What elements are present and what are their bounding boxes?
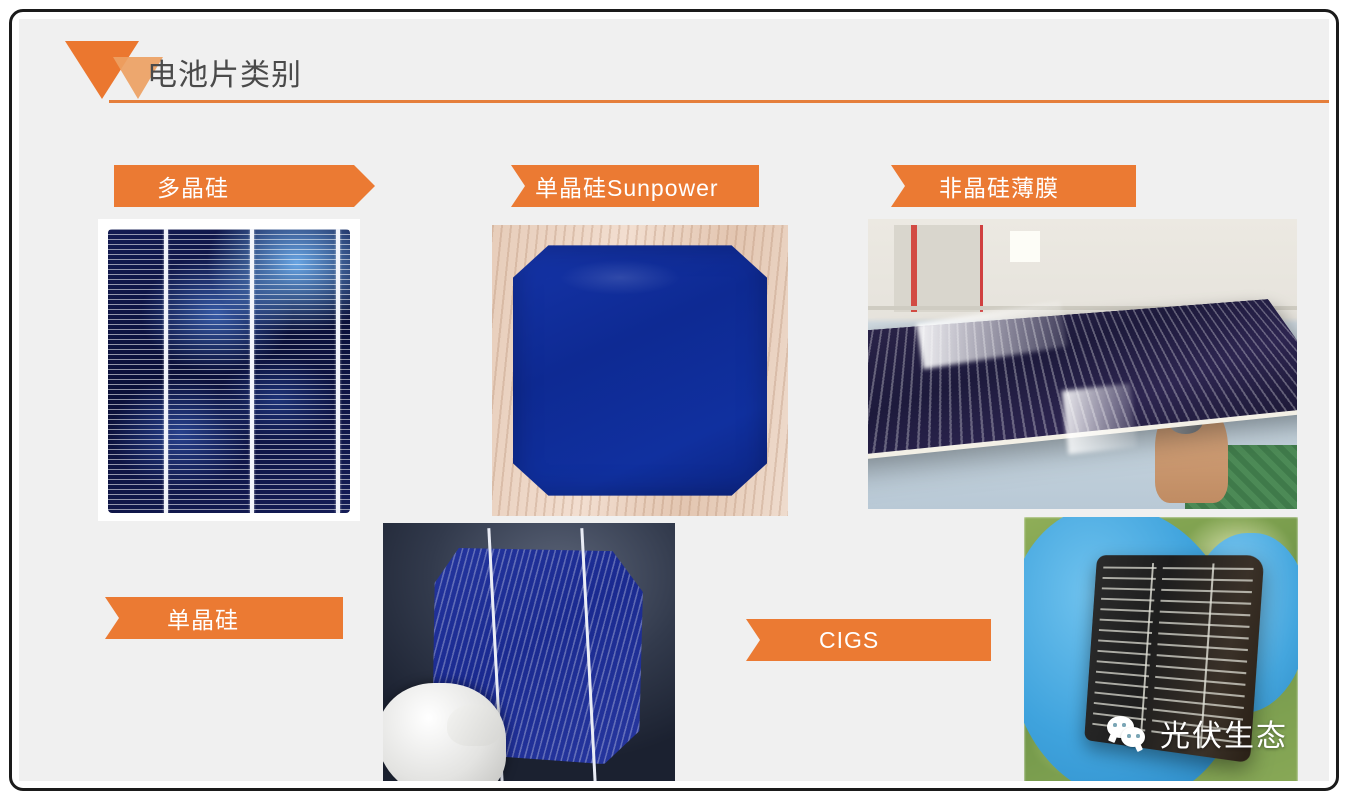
arrow-tip-icon — [759, 165, 780, 207]
header-divider — [109, 100, 1329, 103]
wechat-eye-4 — [1136, 734, 1140, 738]
factory-window — [1010, 231, 1040, 263]
sunpower-photo — [492, 225, 788, 516]
banner-amorphous-label: 非晶硅薄膜 — [939, 169, 1059, 203]
poly-busbar-1 — [164, 229, 168, 513]
factory-red-post — [911, 225, 917, 312]
wechat-eye-3 — [1127, 734, 1131, 738]
watermark-label: 光伏生态 — [1160, 711, 1288, 755]
banner-poly-label: 多晶硅 — [157, 169, 229, 203]
arrow-tip-icon — [1136, 165, 1157, 207]
wechat-eye-2 — [1122, 723, 1126, 727]
poly-busbar-3 — [336, 229, 340, 513]
banner-amorphous[interactable]: 非晶硅薄膜 — [891, 165, 1136, 207]
banner-sunpower[interactable]: 单晶硅Sunpower — [511, 165, 759, 207]
sunpower-wafer — [513, 245, 768, 495]
arrow-tip-icon — [354, 165, 375, 207]
arrow-tip-icon — [991, 619, 1012, 661]
banner-mono-label: 单晶硅 — [167, 601, 239, 635]
wechat-bubble-small — [1121, 727, 1145, 747]
poly-busbar-2 — [250, 229, 254, 513]
factory-door — [894, 225, 983, 312]
mono-photo — [383, 523, 675, 781]
banner-mono[interactable]: 单晶硅 — [105, 597, 343, 639]
wechat-eye-1 — [1113, 723, 1117, 727]
banner-cigs[interactable]: CIGS — [746, 619, 991, 661]
banner-cigs-label: CIGS — [819, 627, 879, 654]
banner-sunpower-label: 单晶硅Sunpower — [535, 169, 719, 203]
banner-poly[interactable]: 多晶硅 — [114, 165, 354, 207]
amorphous-photo — [868, 219, 1297, 509]
panel-glare-2 — [1062, 384, 1137, 455]
page-title: 电池片类别 — [147, 50, 302, 94]
arrow-tip-icon — [343, 597, 364, 639]
watermark: 光伏生态 — [1107, 711, 1288, 755]
poly-photo — [98, 219, 360, 521]
slide-canvas: 电池片类别 多晶硅 单晶硅Sunpower — [19, 19, 1329, 781]
slide-frame: 电池片类别 多晶硅 单晶硅Sunpower — [9, 9, 1339, 791]
poly-cell-surface — [108, 229, 350, 513]
wechat-icon — [1107, 716, 1151, 750]
